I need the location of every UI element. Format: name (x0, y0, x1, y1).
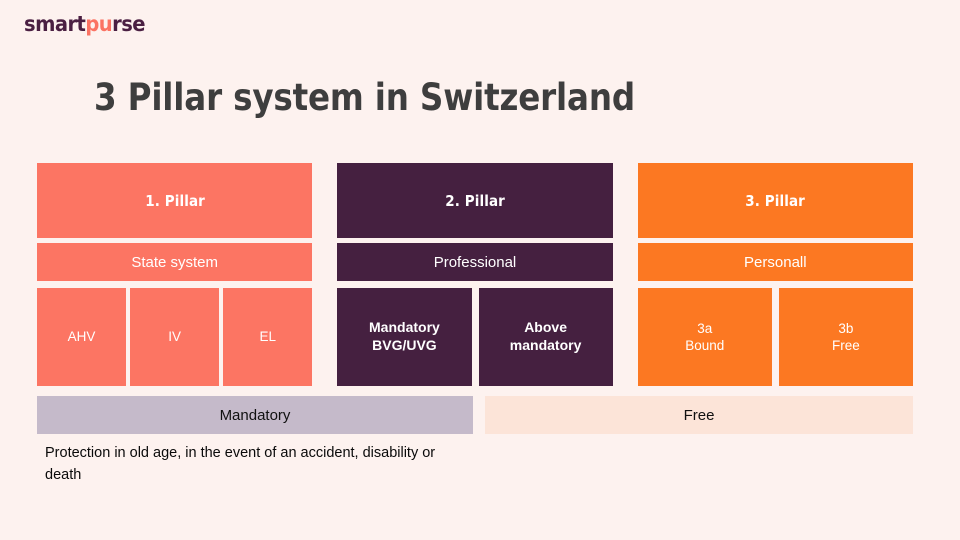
legend-bars: Mandatory Free (37, 396, 913, 434)
pillar-subtitle-label-1: State system (131, 254, 218, 271)
pillar-subtitle-2: Professional (337, 243, 612, 281)
pillar-column-2: 2. PillarProfessionalMandatoryBVG/UVGAbo… (337, 163, 612, 386)
brand-logo-part-pu: pu (85, 12, 112, 36)
brand-logo-part-rse: rse (112, 12, 145, 36)
pillar-item: 3aBound (638, 288, 772, 386)
pillar-item-line1: EL (260, 328, 277, 345)
pillar-item: 3bFree (779, 288, 913, 386)
pillar-item: Abovemandatory (479, 288, 613, 386)
pillar-item-line1: AHV (68, 328, 96, 345)
pillar-item-line2: mandatory (510, 337, 582, 355)
pillar-header-label-2: 2. Pillar (445, 192, 505, 210)
pillar-column-3: 3. PillarPersonall3aBound3bFree (638, 163, 913, 386)
brand-logo-part-smart: smart (24, 12, 85, 36)
page-title: 3 Pillar system in Switzerland (94, 76, 635, 119)
pillar-subtitle-label-3: Personall (744, 254, 807, 271)
pillar-header-3: 3. Pillar (638, 163, 913, 238)
caption-text: Protection in old age, in the event of a… (45, 443, 475, 487)
legend-bar-free: Free (485, 396, 913, 434)
pillar-item-line2: BVG/UVG (369, 337, 440, 355)
pillar-diagram: 1. PillarState systemAHVIVEL2. PillarPro… (37, 163, 913, 386)
pillar-item: IV (130, 288, 219, 386)
brand-logo: smartpurse (24, 14, 145, 35)
pillar-item-line1: 3b (832, 320, 860, 337)
pillar-subtitle-1: State system (37, 243, 312, 281)
pillar-header-2: 2. Pillar (337, 163, 612, 238)
pillar-item: AHV (37, 288, 126, 386)
legend-bar-mandatory-label: Mandatory (220, 407, 291, 424)
pillar-item: MandatoryBVG/UVG (337, 288, 471, 386)
pillar-item-line1: Above (510, 319, 582, 337)
pillar-item-line2: Bound (685, 337, 724, 354)
pillar-header-label-3: 3. Pillar (746, 192, 806, 210)
legend-bar-mandatory: Mandatory (37, 396, 473, 434)
pillar-column-1: 1. PillarState systemAHVIVEL (37, 163, 312, 386)
pillar-subtitle-3: Personall (638, 243, 913, 281)
pillar-items-3: 3aBound3bFree (638, 288, 913, 386)
pillar-subtitle-label-2: Professional (434, 254, 517, 271)
pillar-items-1: AHVIVEL (37, 288, 312, 386)
pillar-item-line2: Free (832, 337, 860, 354)
pillar-header-1: 1. Pillar (37, 163, 312, 238)
pillar-item-line1: 3a (685, 320, 724, 337)
pillar-item-line1: Mandatory (369, 319, 440, 337)
pillar-item: EL (223, 288, 312, 386)
legend-bar-free-label: Free (684, 407, 715, 424)
pillar-items-2: MandatoryBVG/UVGAbovemandatory (337, 288, 612, 386)
pillar-item-line1: IV (168, 328, 181, 345)
pillar-header-label-1: 1. Pillar (145, 192, 205, 210)
